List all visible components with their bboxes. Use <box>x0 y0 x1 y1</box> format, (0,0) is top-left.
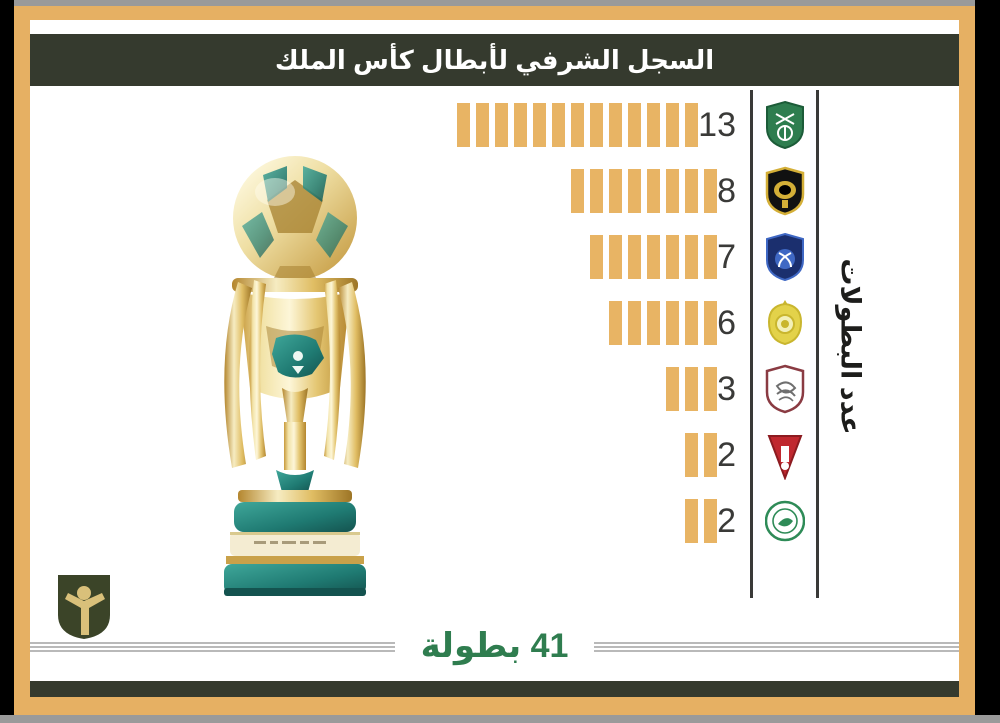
bar-tick <box>457 103 470 147</box>
crest-column <box>754 86 816 598</box>
bar-tick <box>704 301 717 345</box>
bar-row: 7 <box>590 224 750 290</box>
bar-tick <box>704 169 717 213</box>
bar-ticks <box>457 103 698 147</box>
bar-ticks <box>685 433 717 477</box>
al-ittihad-crest-icon <box>765 166 805 216</box>
bar-tick <box>647 103 660 147</box>
gold-frame: السجل الشرفي لأبطال كأس الملك 13876322 <box>14 6 975 715</box>
category-axis-line-outer <box>816 90 819 598</box>
club-crest <box>754 224 816 290</box>
bar-tick <box>685 169 698 213</box>
bar-tick <box>666 367 679 411</box>
bar-row: 6 <box>609 290 750 356</box>
bar-tick <box>628 169 641 213</box>
bar-tick <box>628 301 641 345</box>
club-crest <box>754 158 816 224</box>
bar-tick <box>647 301 660 345</box>
club-crest <box>754 290 816 356</box>
bar-tick <box>685 103 698 147</box>
bar-tick <box>571 169 584 213</box>
bar-tick <box>609 169 622 213</box>
bottom-edge-strip <box>0 715 1000 723</box>
bar-ticks <box>609 301 717 345</box>
bar-tick <box>552 103 565 147</box>
club-crest <box>754 422 816 488</box>
bar-tick <box>704 235 717 279</box>
bar-tick <box>666 103 679 147</box>
bar-tick <box>590 169 603 213</box>
al-ettifaq-crest-icon <box>765 496 805 546</box>
bar-tick <box>647 169 660 213</box>
bar-tick <box>685 433 698 477</box>
king-cup-trophy-icon <box>180 130 410 610</box>
bar-row: 3 <box>666 356 750 422</box>
bar-tick <box>666 301 679 345</box>
title-band: السجل الشرفي لأبطال كأس الملك <box>30 34 959 86</box>
bar-ticks <box>685 499 717 543</box>
total-championships-text: 41 بطولة <box>395 626 595 666</box>
club-crest <box>754 488 816 554</box>
bar-tick <box>666 235 679 279</box>
bar-row: 2 <box>685 422 750 488</box>
bottom-band <box>30 681 959 697</box>
bar-value-label: 13 <box>698 108 736 142</box>
infographic-card: السجل الشرفي لأبطال كأس الملك 13876322 <box>30 20 959 697</box>
bar-tick <box>685 301 698 345</box>
bar-tick <box>685 499 698 543</box>
bar-value-label: 8 <box>717 174 736 208</box>
bar-tick <box>685 235 698 279</box>
bar-row: 2 <box>685 488 750 554</box>
bar-value-label: 6 <box>717 306 736 340</box>
bar-ticks <box>590 235 717 279</box>
bar-value-label: 3 <box>717 372 736 406</box>
bar-row: 8 <box>571 158 750 224</box>
bar-tick <box>609 301 622 345</box>
bar-tick <box>685 367 698 411</box>
bar-tick <box>590 235 603 279</box>
bar-tick <box>628 235 641 279</box>
right-gutter <box>975 0 1000 723</box>
y-axis-label: عدد البطولات <box>830 186 870 506</box>
club-crest <box>754 92 816 158</box>
bar-tick <box>514 103 527 147</box>
bar-value-label: 2 <box>717 504 736 538</box>
trophy-image <box>180 130 410 610</box>
bar-row: 13 <box>457 92 750 158</box>
bar-value-label: 7 <box>717 240 736 274</box>
footer-rule-right <box>594 642 959 651</box>
chart-area: 13876322 <box>30 86 959 616</box>
bar-tick <box>647 235 660 279</box>
screenshot-root: السجل الشرفي لأبطال كأس الملك 13876322 <box>0 0 1000 723</box>
bar-tick <box>704 499 717 543</box>
footer-rule-left <box>30 642 395 651</box>
bar-ticks <box>571 169 717 213</box>
bar-tick <box>495 103 508 147</box>
al-nassr-crest-icon <box>765 298 805 348</box>
bar-tick <box>590 103 603 147</box>
al-ahli-crest-icon <box>765 100 805 150</box>
bar-tick <box>609 103 622 147</box>
footer: 41 بطولة <box>30 619 959 673</box>
bar-tick <box>666 169 679 213</box>
page-title: السجل الشرفي لأبطال كأس الملك <box>275 45 714 76</box>
al-hilal-crest-icon <box>765 232 805 282</box>
al-shabab-crest-icon <box>765 364 805 414</box>
category-axis-line <box>750 90 753 598</box>
left-gutter <box>0 0 14 723</box>
club-crest <box>754 356 816 422</box>
bar-tick <box>571 103 584 147</box>
bar-tick <box>704 433 717 477</box>
bar-tick <box>609 235 622 279</box>
y-axis-label-text: عدد البطولات <box>835 258 866 434</box>
al-qadsiah-crest-icon <box>765 430 805 480</box>
bar-ticks <box>666 367 717 411</box>
bar-tick <box>476 103 489 147</box>
bar-tick <box>533 103 546 147</box>
bar-tick <box>704 367 717 411</box>
bar-value-label: 2 <box>717 438 736 472</box>
bar-tick <box>628 103 641 147</box>
